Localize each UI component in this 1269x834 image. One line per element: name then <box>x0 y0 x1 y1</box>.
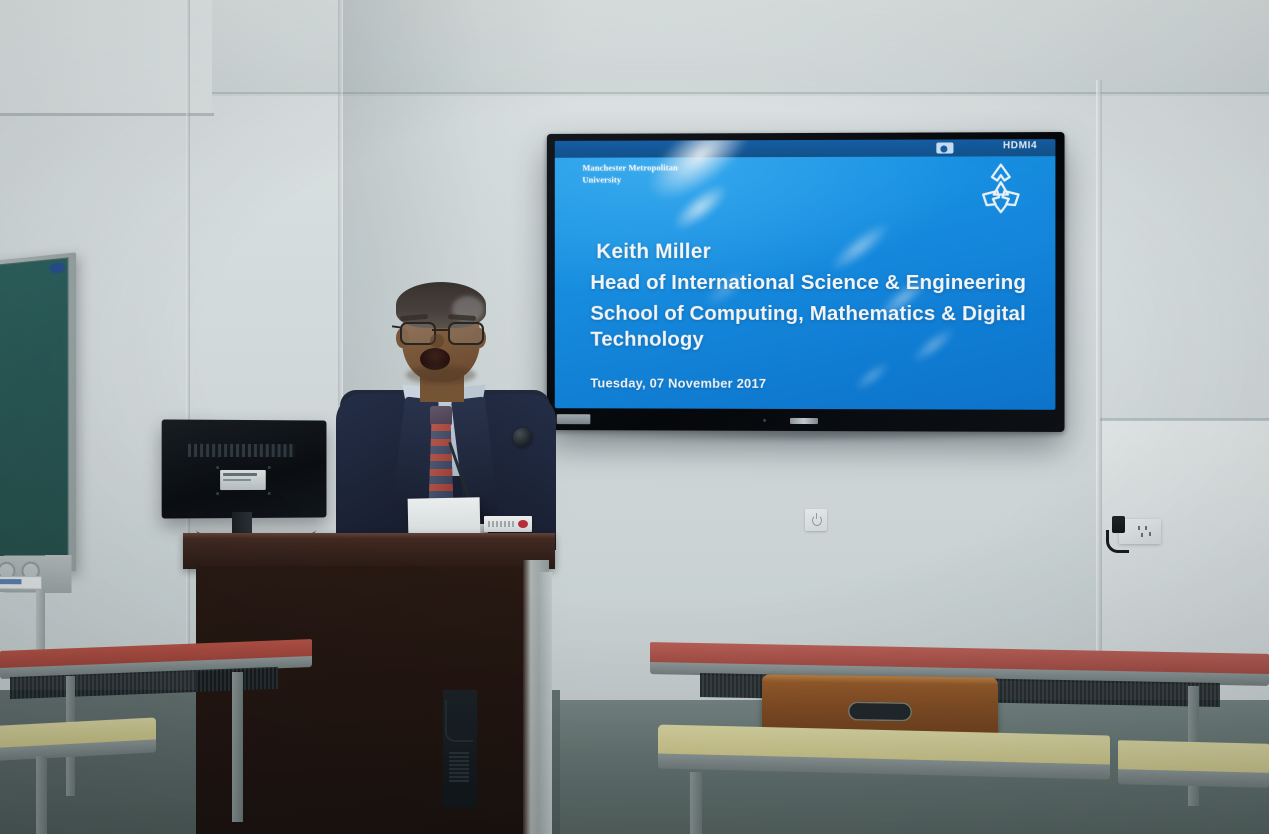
desk-back-left-leg <box>232 672 243 822</box>
presentation-slide: HDMI4 Manchester Metropolitan University <box>555 139 1056 410</box>
input-source-icon <box>936 142 953 153</box>
lecture-room-photo: HDMI4 Manchester Metropolitan University <box>0 0 1269 834</box>
display-brand-logo <box>790 418 818 424</box>
power-cable <box>1106 530 1129 553</box>
small-white-box[interactable] <box>484 516 532 532</box>
chalk-tray <box>0 555 72 593</box>
nose <box>430 334 444 348</box>
osd-input-bar: HDMI4 <box>555 139 1056 158</box>
desk-front-left-leg <box>36 756 47 834</box>
lectern-desktop <box>183 533 555 569</box>
eyeglass-lens-right <box>448 322 484 345</box>
chalkboard-support-leg <box>36 590 45 650</box>
wooden-chair-back[interactable] <box>762 674 998 735</box>
display-corner-tag <box>557 414 591 424</box>
paper-stack[interactable] <box>408 497 481 536</box>
microphone-capsule[interactable] <box>513 428 532 447</box>
university-logotype: Manchester Metropolitan University <box>582 162 761 186</box>
monitor-vent <box>188 444 295 457</box>
monitor-screw <box>216 466 219 469</box>
wall-recess-edge <box>1100 418 1269 421</box>
lectern-side-panel-outer <box>538 572 552 834</box>
green-chalkboard <box>0 262 74 562</box>
slide-text-block: Keith Miller Head of International Scien… <box>590 240 1033 392</box>
slide-role: Head of International Science & Engineer… <box>590 270 1033 296</box>
pc-vent <box>449 752 469 782</box>
wall-light-switch[interactable] <box>805 509 827 531</box>
display-status-led <box>763 419 766 422</box>
chalkboard-surface <box>0 257 69 564</box>
soffit-edge <box>0 113 214 116</box>
logotype-line-2: University <box>582 174 761 186</box>
wall-mounted-display[interactable]: HDMI4 Manchester Metropolitan University <box>547 132 1065 432</box>
chin-shadow <box>406 366 476 384</box>
chair-handle-slot <box>848 702 912 722</box>
monitor-spec-label <box>220 470 266 490</box>
monitor-screw <box>268 492 271 495</box>
pc-cable <box>445 700 473 742</box>
slide-date: Tuesday, 07 November 2017 <box>590 375 1033 391</box>
monitor-screw <box>268 466 271 469</box>
tv-wall-shadow <box>556 430 1056 442</box>
logotype-line-1: Manchester Metropolitan <box>582 162 761 174</box>
osd-input-label: HDMI4 <box>972 140 1056 151</box>
display-panel: HDMI4 Manchester Metropolitan University <box>555 139 1056 410</box>
lectern-body <box>196 566 544 834</box>
mmu-recycle-knot-logo <box>973 159 1030 215</box>
slide-school: School of Computing, Mathematics & Digit… <box>590 301 1033 354</box>
lectern-monitor[interactable] <box>162 419 327 518</box>
eyeglass-bridge <box>432 329 448 331</box>
desk-front-right-leg <box>690 772 702 834</box>
socket-holes <box>1138 526 1154 538</box>
eyeglass-temple <box>392 325 402 328</box>
desktop-pc-tower <box>443 690 477 808</box>
monitor-screw <box>216 492 219 495</box>
necktie-knot <box>430 406 452 426</box>
chalk-tray-label <box>0 576 42 590</box>
ceiling-soffit <box>0 0 212 116</box>
chalkboard-frame <box>0 252 76 571</box>
slide-speaker-name: Keith Miller <box>596 240 1033 264</box>
